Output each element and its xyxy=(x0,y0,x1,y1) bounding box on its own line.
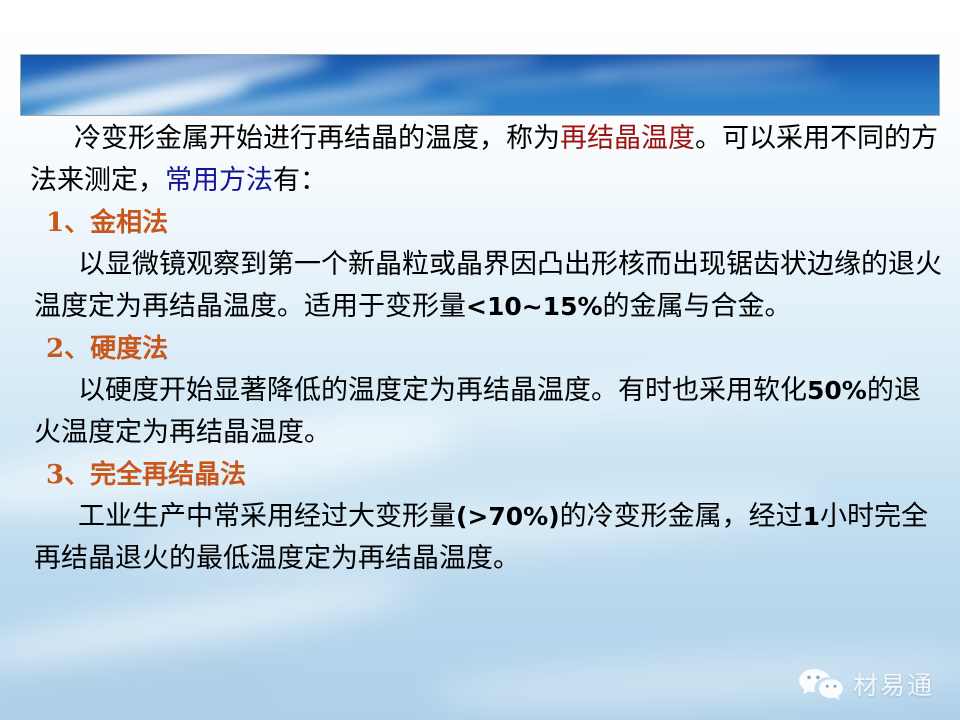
intro-text-c: 有： xyxy=(273,165,327,196)
wechat-account-name: 材易通 xyxy=(853,666,934,702)
section-heading-3: 3、完全再结晶法 xyxy=(0,454,960,496)
banner-cloud xyxy=(20,73,251,116)
slide-canvas: 冷变形金属开始进行再结晶的温度，称为再结晶温度。可以采用不同的方法来测定，常用方… xyxy=(0,0,960,720)
banner-cloud xyxy=(451,69,622,95)
banner-cloud xyxy=(171,75,431,116)
section-heading-1: 1、金相法 xyxy=(0,202,960,244)
section-3-value-hours: 1 xyxy=(803,502,820,531)
section-3-text-a: 工业生产中常采用经过大变形量 xyxy=(78,501,456,532)
intro-highlight-recrystallization-temperature: 再结晶温度 xyxy=(560,123,695,154)
banner-cloud xyxy=(581,54,822,85)
wechat-watermark: 材易通 xyxy=(798,666,934,702)
banner-cloud xyxy=(351,54,542,87)
section-body-2: 以硬度开始显著降低的温度定为再结晶温度。有时也采用软化50%的退火温度定为再结晶… xyxy=(0,370,960,454)
slide-body: 冷变形金属开始进行再结晶的温度，称为再结晶温度。可以采用不同的方法来测定，常用方… xyxy=(0,118,960,580)
banner-cloud xyxy=(32,54,330,116)
background-cloud-wisp xyxy=(0,644,302,720)
intro-paragraph: 冷变形金属开始进行再结晶的温度，称为再结晶温度。可以采用不同的方法来测定，常用方… xyxy=(0,118,960,202)
section-heading-2: 2、硬度法 xyxy=(0,328,960,370)
wechat-icon xyxy=(798,667,844,701)
section-1-value: <10~15% xyxy=(466,292,603,321)
background-cloud-wisp xyxy=(0,564,421,681)
section-2-value: 50% xyxy=(807,376,867,405)
banner-cloud xyxy=(271,97,491,116)
section-3-text-b: 的冷变形金属，经过 xyxy=(560,501,803,532)
section-body-3: 工业生产中常采用经过大变形量(>70%)的冷变形金属，经过1小时完全再结晶退火的… xyxy=(0,496,960,580)
section-3-value: (>70%) xyxy=(456,502,560,531)
banner-cloud xyxy=(20,54,321,111)
section-2-text-a: 以硬度开始显著降低的温度定为再结晶温度。有时也采用软化 xyxy=(78,375,807,406)
intro-text-a: 冷变形金属开始进行再结晶的温度，称为 xyxy=(74,123,560,154)
intro-highlight-common-methods: 常用方法 xyxy=(165,165,273,196)
sky-banner-image xyxy=(20,54,940,116)
section-1-text-b: 的金属与合金。 xyxy=(603,291,792,322)
banner-cloud xyxy=(641,78,841,97)
section-body-1: 以显微镜观察到第一个新晶粒或晶界因凸出形核而出现锯齿状边缘的退火温度定为再结晶温… xyxy=(0,244,960,328)
